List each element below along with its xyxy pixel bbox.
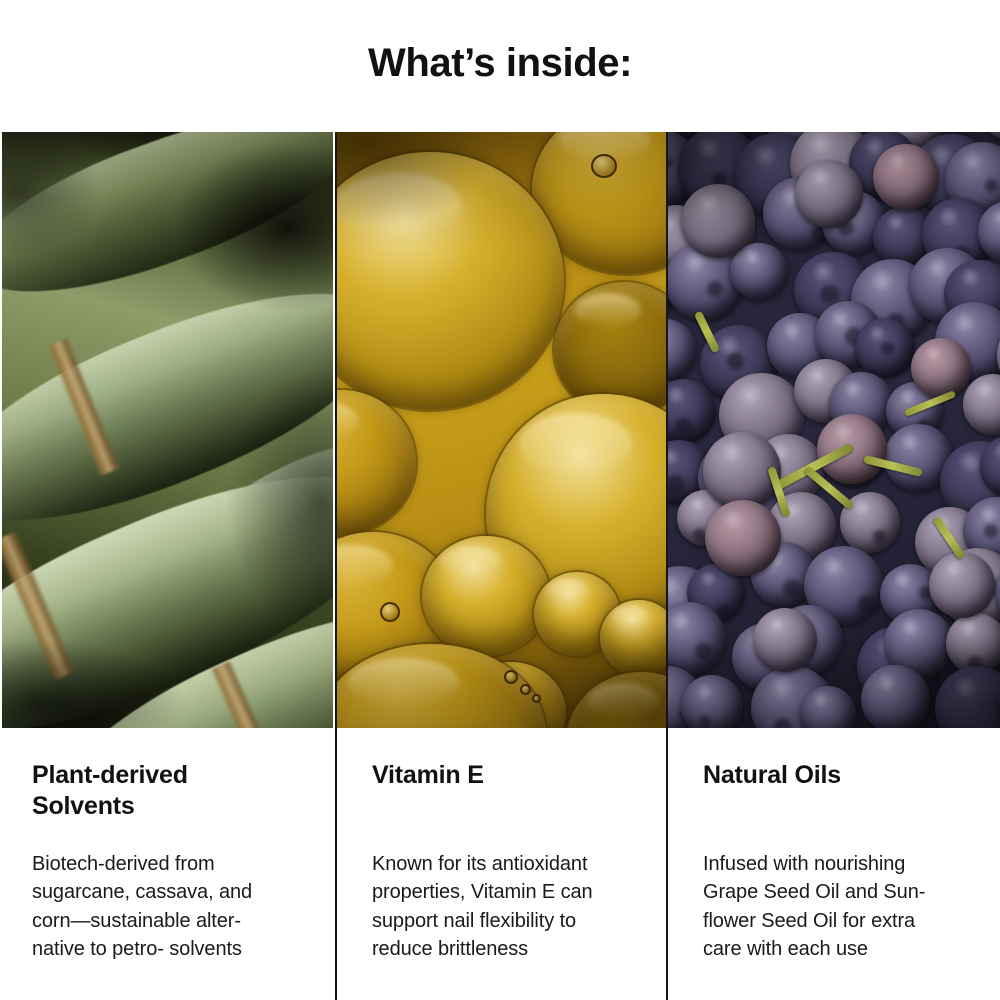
sugarcane-stalks-photo	[2, 132, 333, 728]
card-body: Known for its antioxidant properties, Vi…	[372, 850, 633, 964]
ingredient-card-vitamin-e: Vitamin E Known for its antioxidant prop…	[336, 132, 667, 1000]
card-body: Biotech-derived from sugarcane, cassava,…	[32, 850, 306, 964]
oil-bubbles-photo	[336, 132, 667, 728]
column-divider-1	[335, 132, 337, 1000]
page-header: What’s inside:	[0, 0, 1000, 132]
sugarcane-shading	[2, 132, 333, 728]
card-title: Natural Oils	[703, 760, 966, 822]
card-text-block: Vitamin E Known for its antioxidant prop…	[336, 728, 667, 1000]
grapes-photo	[667, 132, 1000, 728]
card-body: Infused with nourishing Grape Seed Oil a…	[703, 850, 966, 964]
card-title: Plant-derived Solvents	[32, 760, 306, 822]
card-text-block: Natural Oils Infused with nourishing Gra…	[667, 728, 1000, 1000]
page-title: What’s inside:	[368, 43, 632, 89]
card-title: Vitamin E	[372, 760, 633, 822]
column-divider-2	[666, 132, 668, 1000]
ingredient-card-plant-derived-solvents: Plant-derived Solvents Biotech-derived f…	[0, 132, 336, 1000]
oil-shading	[336, 132, 667, 728]
ingredient-card-natural-oils: Natural Oils Infused with nourishing Gra…	[667, 132, 1000, 1000]
card-text-block: Plant-derived Solvents Biotech-derived f…	[0, 728, 336, 1000]
ingredient-columns: Plant-derived Solvents Biotech-derived f…	[0, 132, 1000, 1000]
grapes-shading	[667, 132, 1000, 728]
